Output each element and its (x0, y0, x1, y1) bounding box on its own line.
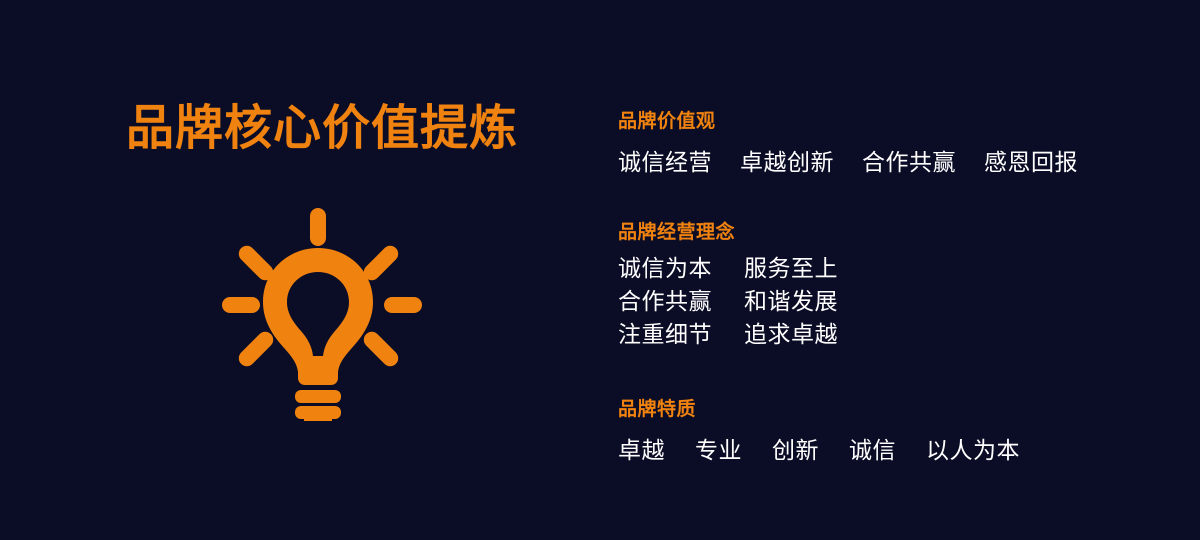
slide-canvas: 品牌核心价值提炼 (0, 0, 1200, 540)
section-brand-philosophy: 品牌经营理念 诚信为本 服务至上 合作共赢 和谐发展 注重细节 追求卓越 (618, 221, 838, 347)
list-item: 以人为本 (926, 436, 1020, 467)
section-heading-philosophy: 品牌经营理念 (618, 221, 838, 245)
list-item: 卓越 (618, 436, 665, 467)
list-item: 合作共赢 (618, 291, 742, 314)
list-item: 注重细节 (618, 324, 742, 347)
list-item: 和谐发展 (742, 291, 838, 314)
section-brand-values: 品牌价值观 诚信经营 卓越创新 合作共赢 感恩回报 (618, 110, 1078, 179)
traits-item-list: 卓越 专业 创新 诚信 以人为本 (618, 436, 1020, 467)
list-item: 追求卓越 (742, 324, 838, 347)
right-panel: 品牌价值观 诚信经营 卓越创新 合作共赢 感恩回报 品牌经营理念 诚信为本 服务… (618, 0, 1178, 540)
philosophy-item-grid: 诚信为本 服务至上 合作共赢 和谐发展 注重细节 追求卓越 (618, 258, 838, 347)
section-brand-traits: 品牌特质 卓越 专业 创新 诚信 以人为本 (618, 398, 1020, 467)
list-item: 卓越创新 (740, 148, 834, 179)
list-item: 诚信为本 (618, 258, 742, 281)
page-title: 品牌核心价值提炼 (126, 104, 518, 152)
list-item: 创新 (772, 436, 819, 467)
section-heading-values: 品牌价值观 (618, 110, 1078, 134)
list-item: 诚信经营 (618, 148, 712, 179)
left-panel: 品牌核心价值提炼 (0, 0, 580, 540)
list-item: 合作共赢 (862, 148, 956, 179)
list-item: 诚信 (849, 436, 896, 467)
values-item-list: 诚信经营 卓越创新 合作共赢 感恩回报 (618, 148, 1078, 179)
list-item: 专业 (695, 436, 742, 467)
list-item: 服务至上 (742, 258, 838, 281)
section-heading-traits: 品牌特质 (618, 398, 1020, 422)
list-item: 感恩回报 (984, 148, 1078, 179)
lightbulb-icon (215, 196, 430, 421)
